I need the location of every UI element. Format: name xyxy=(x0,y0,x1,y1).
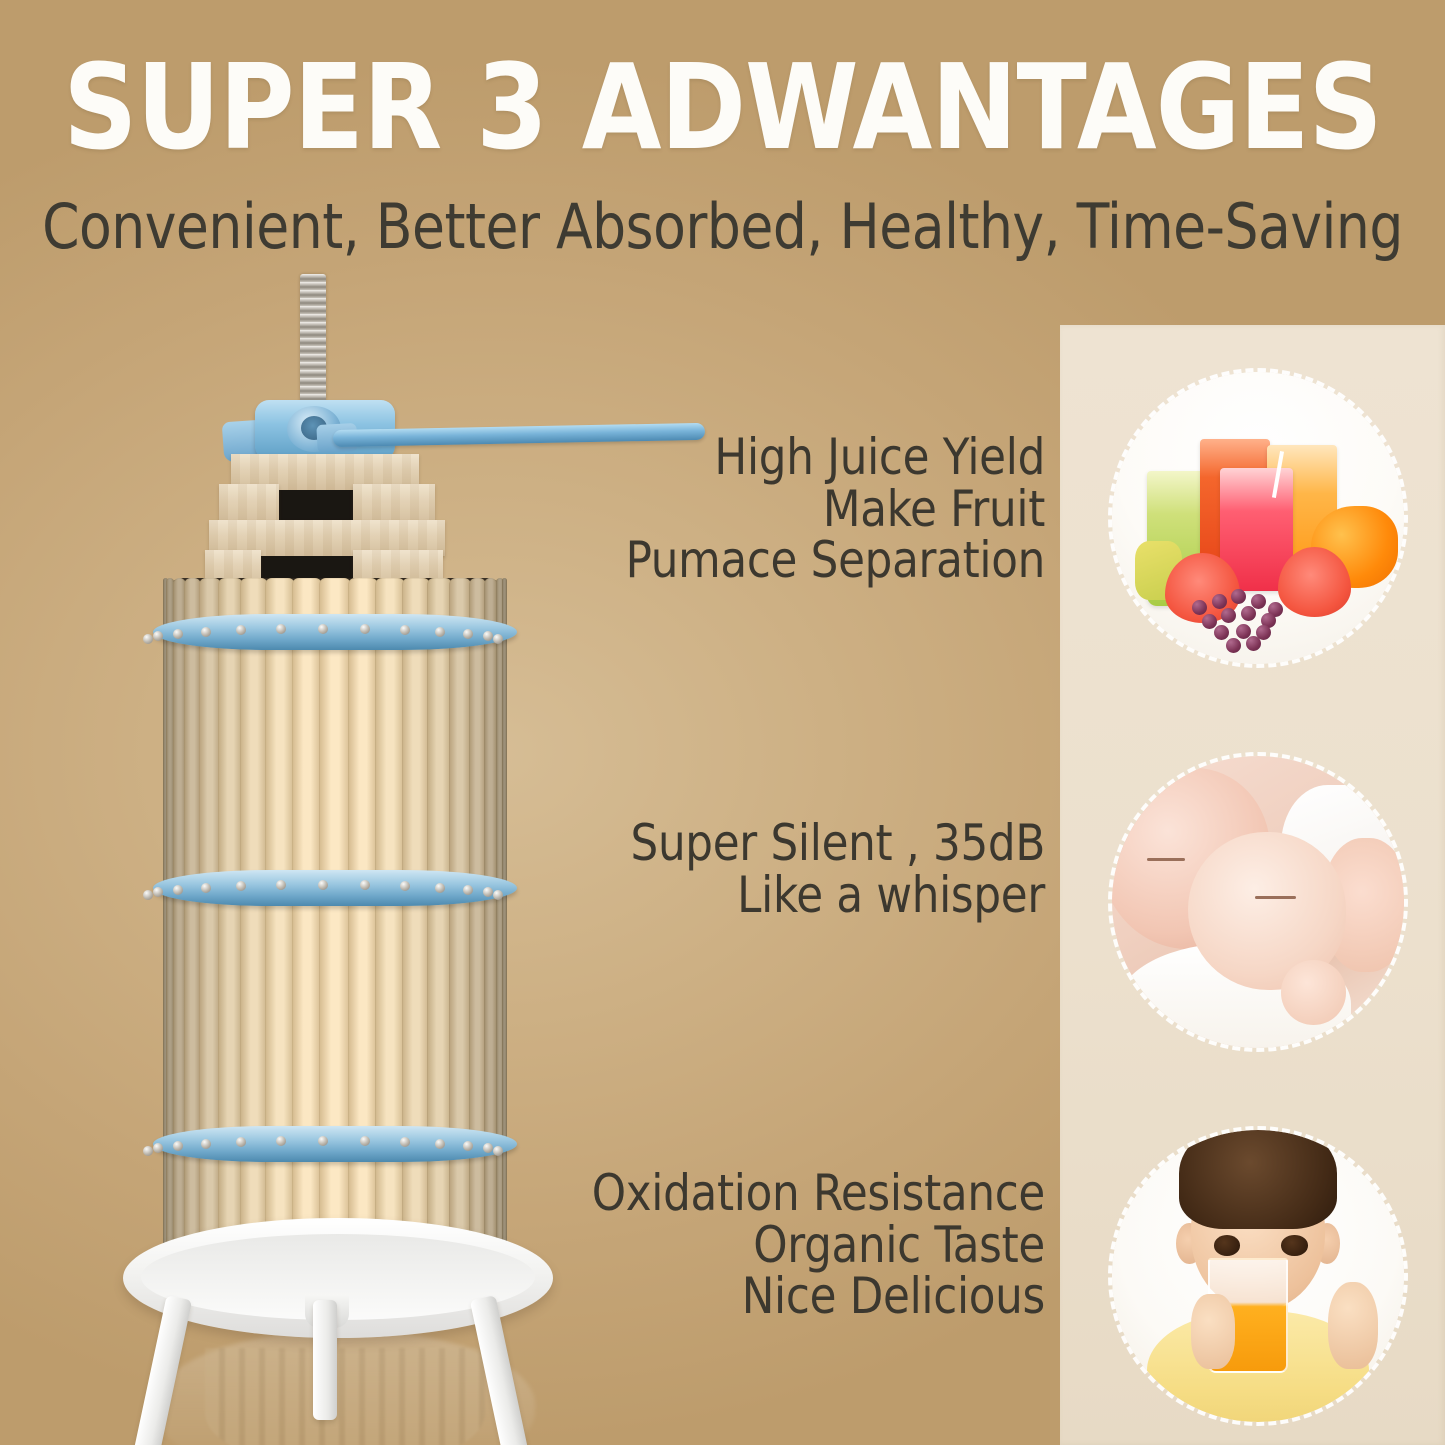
hoop-rivet xyxy=(201,883,211,893)
hoop-rivet xyxy=(463,885,473,895)
barrel-stave xyxy=(402,578,430,1278)
hoop-rivet xyxy=(435,883,445,893)
hoop-rivet xyxy=(153,887,163,897)
hoop-rivet xyxy=(400,881,410,891)
hoop-rivet xyxy=(153,631,163,641)
grape xyxy=(1214,625,1229,640)
barrel-stave xyxy=(427,578,452,1278)
grape xyxy=(1192,600,1207,615)
feature-1-line-3: Pumace Separation xyxy=(502,535,1045,587)
thumbs-up-hand xyxy=(1328,1282,1378,1370)
hoop-rivet xyxy=(143,1146,153,1156)
feature-text-oxidation-resistance: Oxidation Resistance Organic Taste Nice … xyxy=(502,1168,1045,1323)
barrel-stave xyxy=(319,578,350,1278)
hoop-rivet xyxy=(173,1141,183,1151)
hoop-rivet xyxy=(435,1139,445,1149)
boy-hair xyxy=(1179,1130,1337,1229)
hoop-rivet xyxy=(201,627,211,637)
sleeping-mother-and-baby-photo xyxy=(1108,752,1408,1052)
hoop-rivet xyxy=(483,631,493,641)
feature-1-line-1: High Juice Yield xyxy=(502,432,1045,484)
hoop-rivet xyxy=(173,885,183,895)
barrel-stave xyxy=(218,578,243,1278)
grape xyxy=(1202,614,1217,629)
barrel-stave xyxy=(292,578,323,1278)
barrel-stave xyxy=(265,578,295,1278)
boy-drinking-juice-photo xyxy=(1108,1126,1408,1426)
page-subtitle: Convenient, Better Absorbed, Healthy, Ti… xyxy=(29,196,1416,258)
grape xyxy=(1251,594,1266,609)
hoop-rivet xyxy=(173,629,183,639)
barrel-stave xyxy=(449,578,470,1278)
barrel-stave xyxy=(240,578,268,1278)
feature-1-line-2: Make Fruit xyxy=(502,484,1045,536)
press-block-2b xyxy=(353,484,435,524)
feature-text-high-juice-yield: High Juice Yield Make Fruit Pumace Separ… xyxy=(502,432,1045,587)
press-barrel xyxy=(165,578,505,1278)
grape xyxy=(1221,608,1236,623)
hoop-rivet xyxy=(318,1136,328,1146)
hoop-rivet xyxy=(493,1146,503,1156)
feature-3-line-3: Nice Delicious xyxy=(502,1271,1045,1323)
fruit-juice-glasses-photo xyxy=(1108,368,1408,668)
hoop-rivet xyxy=(153,1143,163,1153)
hoop-rivet xyxy=(483,1143,493,1153)
hoop-rivet xyxy=(143,634,153,644)
hoop-rivet xyxy=(463,629,473,639)
hoop-rivet xyxy=(400,625,410,635)
press-block-2 xyxy=(219,484,279,524)
product-reflection-staves xyxy=(205,1348,485,1445)
grape xyxy=(1231,589,1246,604)
hoop-rivet xyxy=(400,1137,410,1147)
feature-2-line-2: Like a whisper xyxy=(502,870,1045,922)
hoop-rivet xyxy=(143,890,153,900)
hoop-rivet xyxy=(493,634,503,644)
barrel-stave xyxy=(375,578,405,1278)
hoop-rivet xyxy=(483,887,493,897)
feature-text-super-silent: Super Silent , 35dB Like a whisper xyxy=(502,818,1045,921)
hoop-rivet xyxy=(463,1141,473,1151)
feature-2-line-1: Super Silent , 35dB xyxy=(502,818,1045,870)
barrel-stave xyxy=(348,578,379,1278)
hoop-rivet xyxy=(318,624,328,634)
grape xyxy=(1241,606,1256,621)
hoop-rivet xyxy=(201,1139,211,1149)
grape xyxy=(1226,638,1241,653)
infographic-page: SUPER 3 ADWANTAGES Convenient, Better Ab… xyxy=(0,0,1445,1445)
hoop-rivet xyxy=(318,880,328,890)
feature-3-line-2: Organic Taste xyxy=(502,1220,1045,1272)
grapes-bunch xyxy=(1182,576,1305,655)
stand-leg-center xyxy=(313,1300,337,1420)
page-title: SUPER 3 ADWANTAGES xyxy=(22,48,1424,166)
grape xyxy=(1246,636,1261,651)
hoop-rivet xyxy=(435,627,445,637)
feature-3-line-1: Oxidation Resistance xyxy=(502,1168,1045,1220)
grape xyxy=(1212,594,1227,609)
barrel-stave xyxy=(469,578,486,1278)
